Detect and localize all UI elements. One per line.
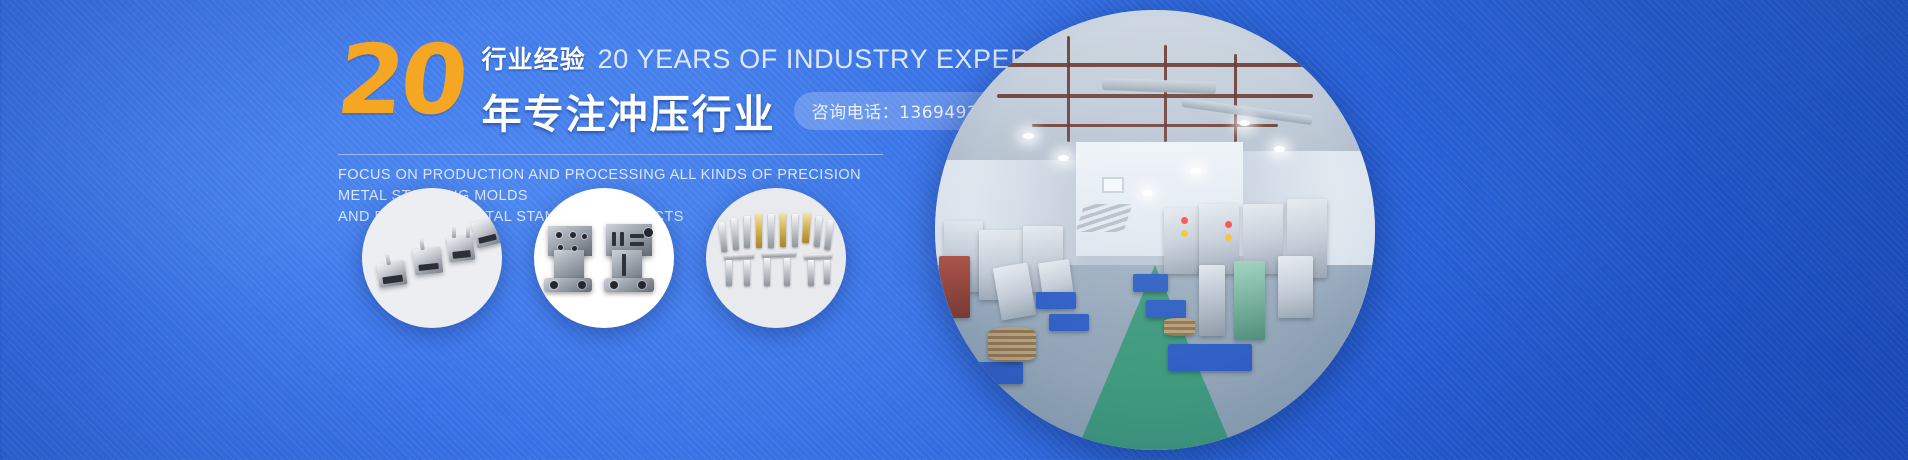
product-circle-stamping-mold[interactable] xyxy=(534,188,674,328)
cn-experience-label: 行业经验 xyxy=(482,40,586,76)
product-circle-terminal-pins[interactable] xyxy=(706,188,846,328)
factory-photo-shading xyxy=(935,10,1375,450)
years-number: 20 xyxy=(334,38,468,122)
usb-connectors-image xyxy=(362,188,502,328)
cn-main-headline: 年专注冲压行业 xyxy=(482,82,776,140)
terminal-pins-image xyxy=(706,188,846,328)
product-circle-usb-connectors[interactable] xyxy=(362,188,502,328)
factory-photo-circle[interactable] xyxy=(935,10,1375,450)
stamping-mold-image xyxy=(534,188,674,328)
promo-banner: 20 行业经验 20 YEARS OF INDUSTRY EXPERIENCE … xyxy=(0,0,1908,460)
headline-divider xyxy=(338,154,883,155)
